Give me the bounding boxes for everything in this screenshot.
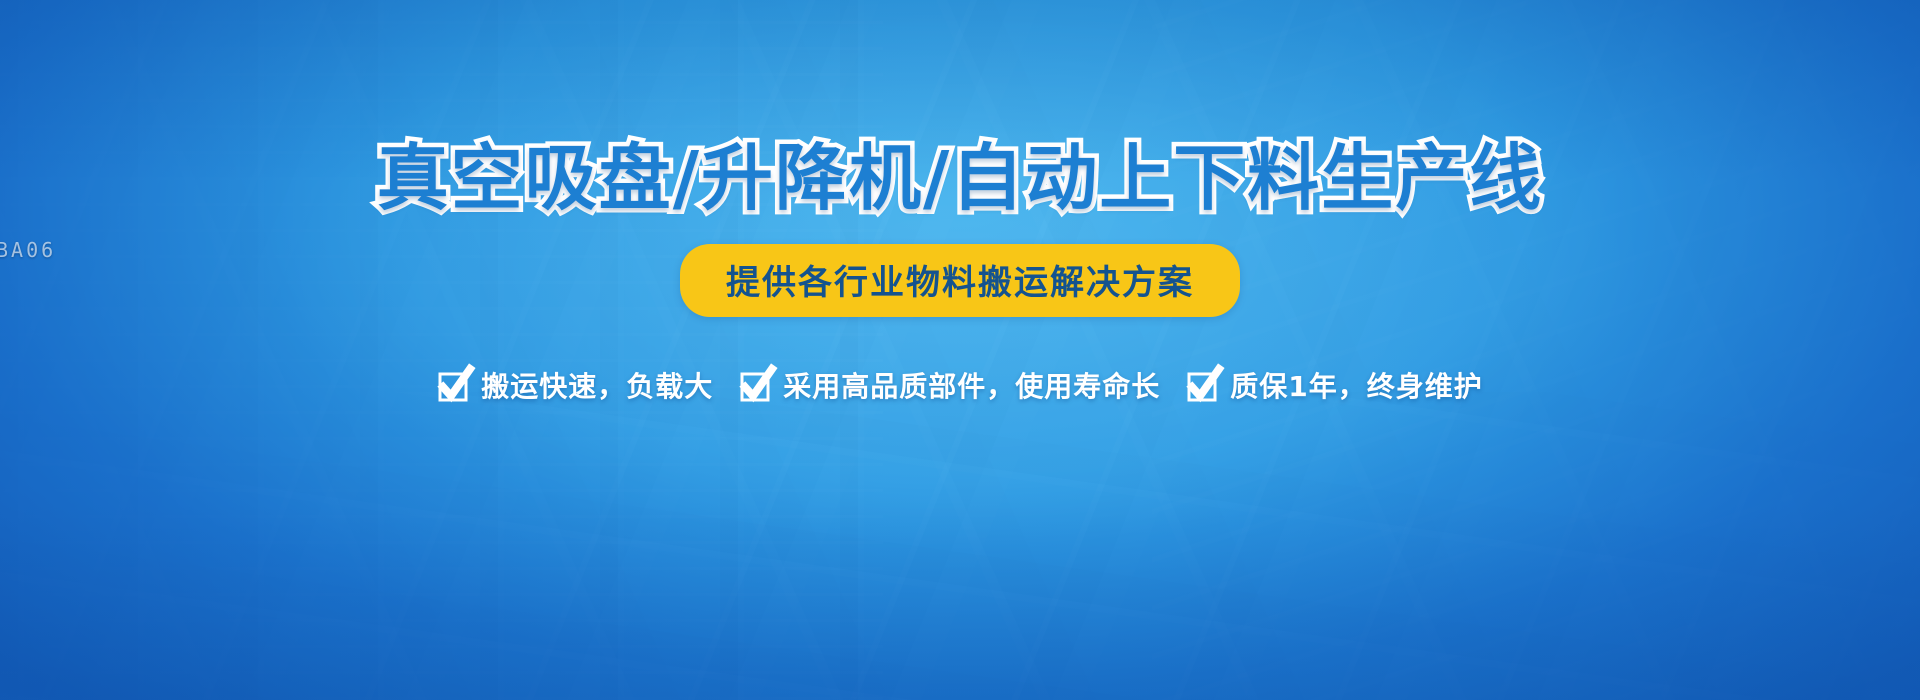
banner-subtitle-pill: 提供各行业物料搬运解决方案	[680, 244, 1240, 317]
feature-list: 搬运快速，负载大 采用高品质部件，使用寿命长	[437, 365, 1483, 405]
feature-label: 采用高品质部件，使用寿命长	[783, 365, 1160, 405]
feature-item: 质保1年，终身维护	[1186, 365, 1482, 405]
banner-headline: 真空吸盘/升降机/自动上下料生产线	[377, 140, 1544, 216]
checkbox-check-icon	[437, 368, 471, 402]
feature-item: 采用高品质部件，使用寿命长	[739, 365, 1160, 405]
feature-item: 搬运快速，负载大	[437, 365, 713, 405]
checkbox-check-icon	[739, 368, 773, 402]
feature-label: 质保1年，终身维护	[1230, 365, 1482, 405]
checkbox-check-icon	[1186, 368, 1220, 402]
banner-content: 真空吸盘/升降机/自动上下料生产线 提供各行业物料搬运解决方案 搬运快速，负载大	[0, 0, 1920, 700]
hero-banner: BA06 真空吸盘/升降机/自动上下料生产线 提供各行业物料搬运解决方案 搬运快…	[0, 0, 1920, 700]
feature-label: 搬运快速，负载大	[481, 365, 713, 405]
